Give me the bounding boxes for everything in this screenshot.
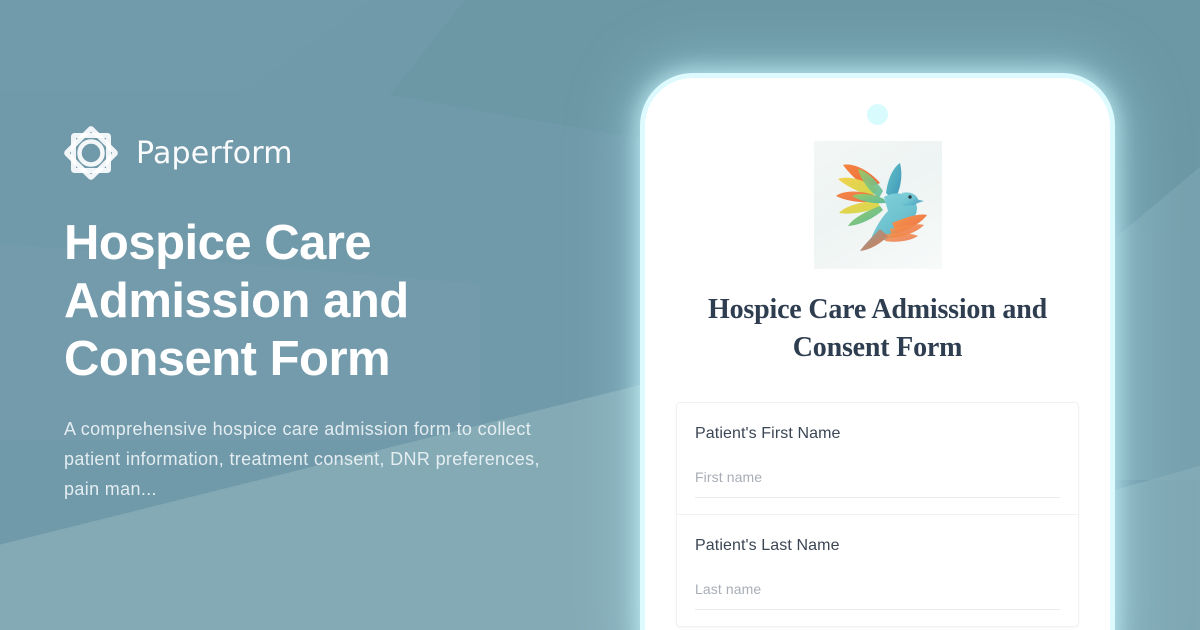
field-label-last-name: Patient's Last Name (695, 537, 1060, 555)
page-description: A comprehensive hospice care admission f… (64, 414, 574, 504)
brand-logo[interactable]: Paperform (64, 126, 624, 180)
phone-screen: Hospice Care Admission and Consent Form … (645, 78, 1110, 630)
first-name-input[interactable]: First name (695, 469, 1060, 498)
hero-panel: Paperform Hospice Care Admission and Con… (64, 0, 624, 630)
form-title: Hospice Care Admission and Consent Form (675, 291, 1080, 367)
background-shape-right-bottom (1100, 460, 1200, 630)
last-name-input[interactable]: Last name (695, 581, 1060, 610)
brand-name: Paperform (136, 136, 293, 171)
page-title: Hospice Care Admission and Consent Form (64, 214, 534, 388)
form-card: Patient's First Name First name Patient'… (676, 402, 1079, 627)
form-field-first-name: Patient's First Name First name (677, 403, 1078, 515)
paperform-star-logo-icon (64, 126, 118, 180)
camera-dot-icon (867, 104, 888, 125)
dove-bird-logo-icon (814, 141, 942, 269)
field-label-first-name: Patient's First Name (695, 425, 1060, 443)
form-field-last-name: Patient's Last Name Last name (677, 515, 1078, 626)
phone-mockup: Hospice Care Admission and Consent Form … (645, 78, 1110, 630)
